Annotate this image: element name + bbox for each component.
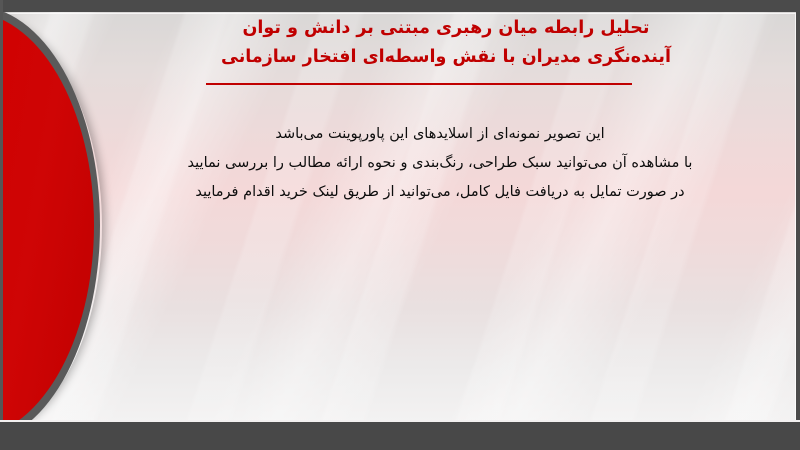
slide-surface: تحلیل رابطه میان رهبری مبتنی بر دانش و ت… <box>0 0 800 450</box>
title-underline <box>206 83 632 85</box>
title-line-2: آینده‌نگری مدیران با نقش واسطه‌ای افتخار… <box>116 43 776 72</box>
frame-bottom-bar <box>0 422 800 450</box>
slide-title: تحلیل رابطه میان رهبری مبتنی بر دانش و ت… <box>116 14 776 72</box>
body-line-3: در صورت تمایل به دریافت فایل کامل، می‌تو… <box>110 178 770 207</box>
slide-body: این تصویر نمونه‌ای از اسلایدهای این پاور… <box>110 120 770 207</box>
body-line-2: با مشاهده آن می‌توانید سبک طراحی، رنگ‌بن… <box>110 149 770 178</box>
body-line-1: این تصویر نمونه‌ای از اسلایدهای این پاور… <box>110 120 770 149</box>
title-line-1: تحلیل رابطه میان رهبری مبتنی بر دانش و ت… <box>116 14 776 43</box>
frame-top-bar <box>0 0 800 12</box>
slide-content: تحلیل رابطه میان رهبری مبتنی بر دانش و ت… <box>0 12 800 422</box>
